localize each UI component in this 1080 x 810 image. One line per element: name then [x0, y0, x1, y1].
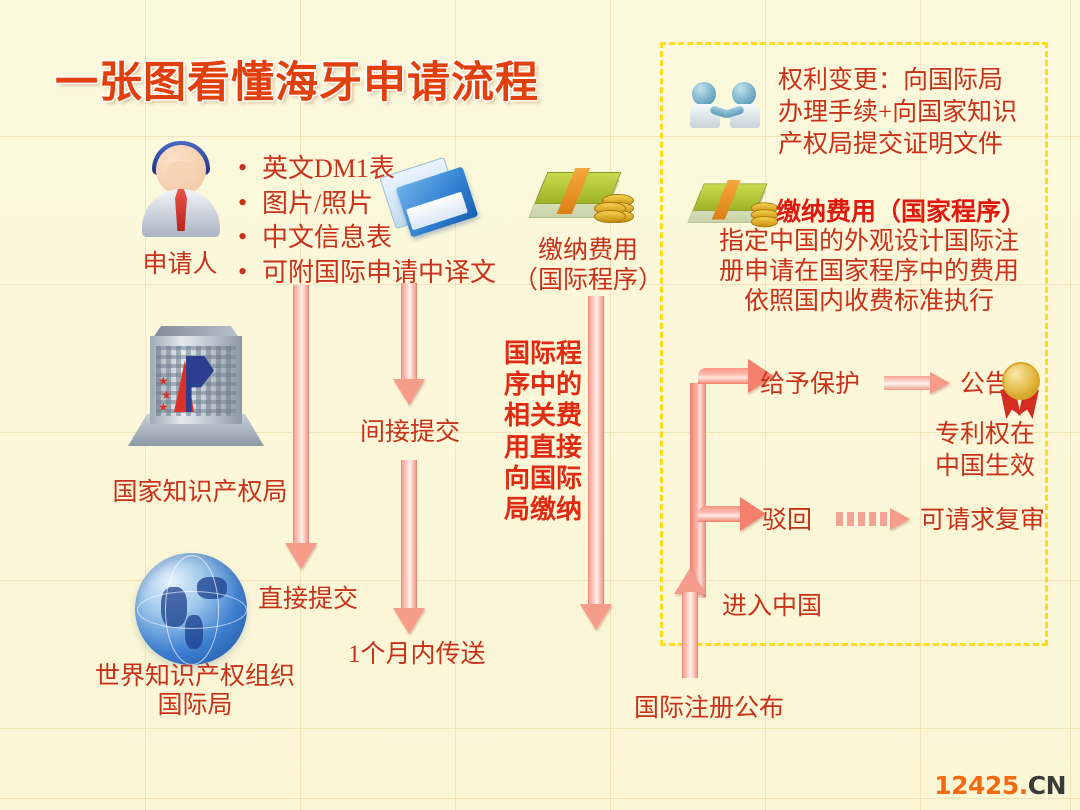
applicant-label: 申请人	[110, 250, 250, 281]
national-fee-heading: 缴纳费用（国家程序）	[776, 192, 1026, 228]
list-item: 英文DM1表	[236, 152, 496, 187]
arrow-applicant-to-cnipa	[284, 285, 318, 575]
arrow-reject-to-review	[836, 508, 916, 530]
rights-change-line3: 产权局提交证明文件	[778, 130, 1003, 161]
arrow-enter-china	[672, 568, 708, 678]
national-fee-line2: 册申请在国家程序中的费用	[690, 257, 1048, 288]
international-fee-note: 国际程序中的相关费用直接向国际局缴纳	[504, 338, 582, 525]
wipo-label-line1: 世界知识产权组织	[70, 662, 320, 693]
international-fee-title-line1: 缴纳费用	[500, 236, 676, 267]
rights-change-line1: 权利变更：向国际局	[778, 66, 1003, 97]
money-stack-icon	[536, 168, 640, 226]
list-item: 中文信息表	[236, 221, 496, 256]
list-item: 可附国际申请中译文	[236, 256, 496, 291]
direct-submit-label: 直接提交	[258, 585, 358, 616]
globe-icon	[135, 553, 247, 665]
watermark: 12425.CN	[934, 771, 1066, 800]
national-fee-line3: 依照国内收费标准执行	[690, 287, 1048, 318]
money-stack-icon	[694, 180, 775, 225]
list-item: 图片/照片	[236, 187, 496, 222]
arrow-transmit-one-month	[392, 460, 426, 640]
watermark-suffix: CN	[1028, 771, 1066, 800]
patent-effect-line2: 中国生效	[900, 452, 1070, 483]
two-people-icon	[690, 82, 764, 130]
national-fee-line1: 指定中国的外观设计国际注	[690, 227, 1048, 258]
watermark-prefix: 12425.	[934, 771, 1027, 800]
grant-protection-label: 给予保护	[760, 370, 860, 401]
patent-effect-line1: 专利权在	[900, 420, 1070, 451]
arrow-indirect-submit	[392, 283, 426, 413]
reject-label: 驳回	[762, 506, 812, 537]
international-publication-label: 国际注册公布	[634, 694, 784, 725]
indirect-submit-label: 间接提交	[360, 418, 460, 449]
rights-change-line2: 办理手续+向国家知识	[778, 98, 1017, 129]
arrow-international-to-publication	[579, 296, 613, 636]
document-bullet-list: 英文DM1表 图片/照片 中文信息表 可附国际申请中译文	[236, 152, 496, 290]
person-icon	[140, 145, 222, 240]
cnipa-label: 国家知识产权局	[90, 478, 310, 509]
wipo-label-line2: 国际局	[70, 691, 320, 722]
office-building-icon: ★ ★ ★	[128, 330, 264, 450]
transmit-label: 1个月内传送	[348, 640, 486, 671]
enter-china-label: 进入中国	[722, 592, 822, 623]
international-fee-title-line2: （国际程序）	[494, 266, 682, 297]
arrow-grant-to-announcement	[884, 372, 952, 394]
page-title: 一张图看懂海牙申请流程	[55, 48, 539, 110]
diagram-canvas: 一张图看懂海牙申请流程 申请人 英文DM1表 图片/照片 中文信息表 可附国际申…	[0, 0, 1080, 810]
medal-icon	[992, 362, 1048, 420]
request-review-label: 可请求复审	[920, 506, 1045, 537]
